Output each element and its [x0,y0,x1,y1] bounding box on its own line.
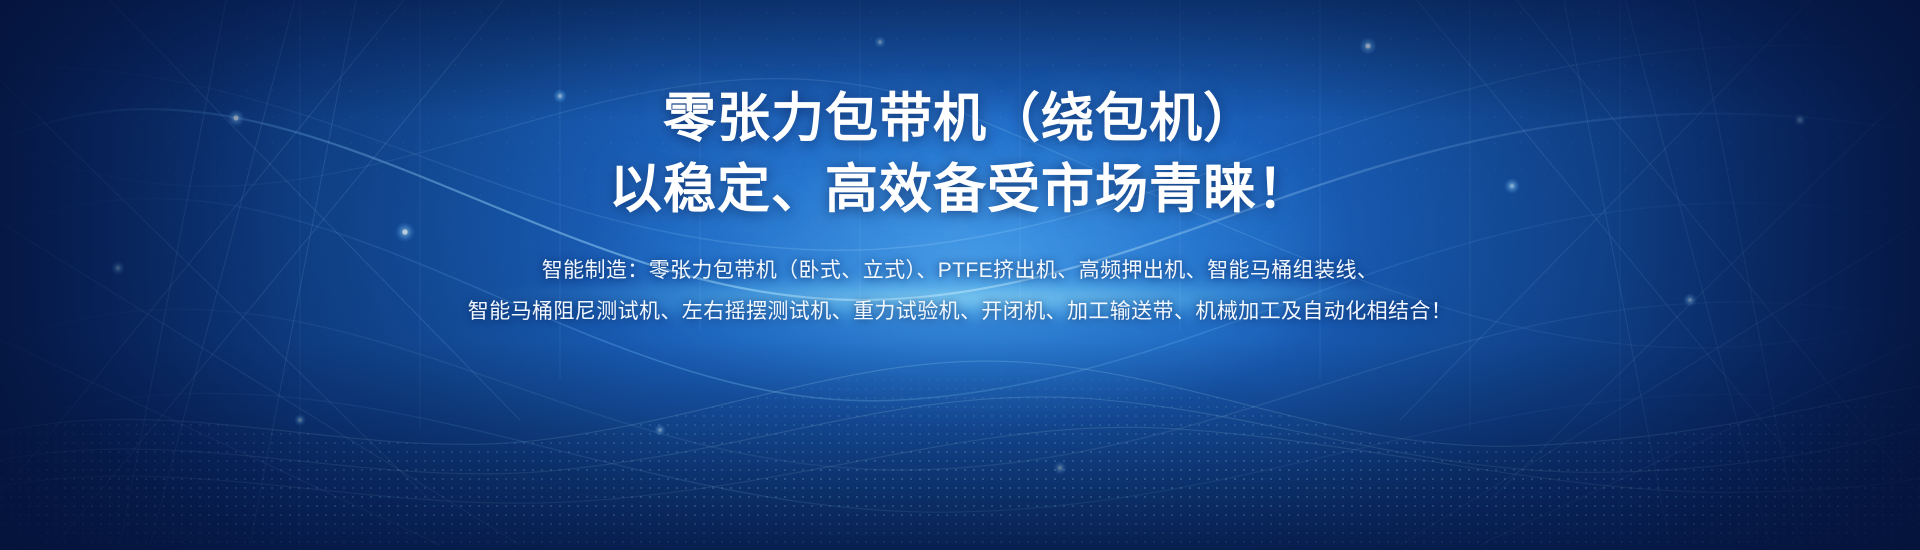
description-block: 智能制造：零张力包带机（卧式、立式）、PTFE挤出机、高频押出机、智能马桶组装线… [0,251,1920,333]
headline-line-1: 零张力包带机（绕包机） [0,88,1920,151]
banner-content: 零张力包带机（绕包机） 以稳定、高效备受市场青睐！ 智能制造：零张力包带机（卧式… [0,88,1920,333]
description-line-1: 智能制造：零张力包带机（卧式、立式）、PTFE挤出机、高频押出机、智能马桶组装线… [0,251,1920,292]
promo-banner: 零张力包带机（绕包机） 以稳定、高效备受市场青睐！ 智能制造：零张力包带机（卧式… [0,0,1920,550]
headline-line-2: 以稳定、高效备受市场青睐！ [0,159,1920,222]
description-line-2: 智能马桶阻尼测试机、左右摇摆测试机、重力试验机、开闭机、加工输送带、机械加工及自… [0,292,1920,333]
